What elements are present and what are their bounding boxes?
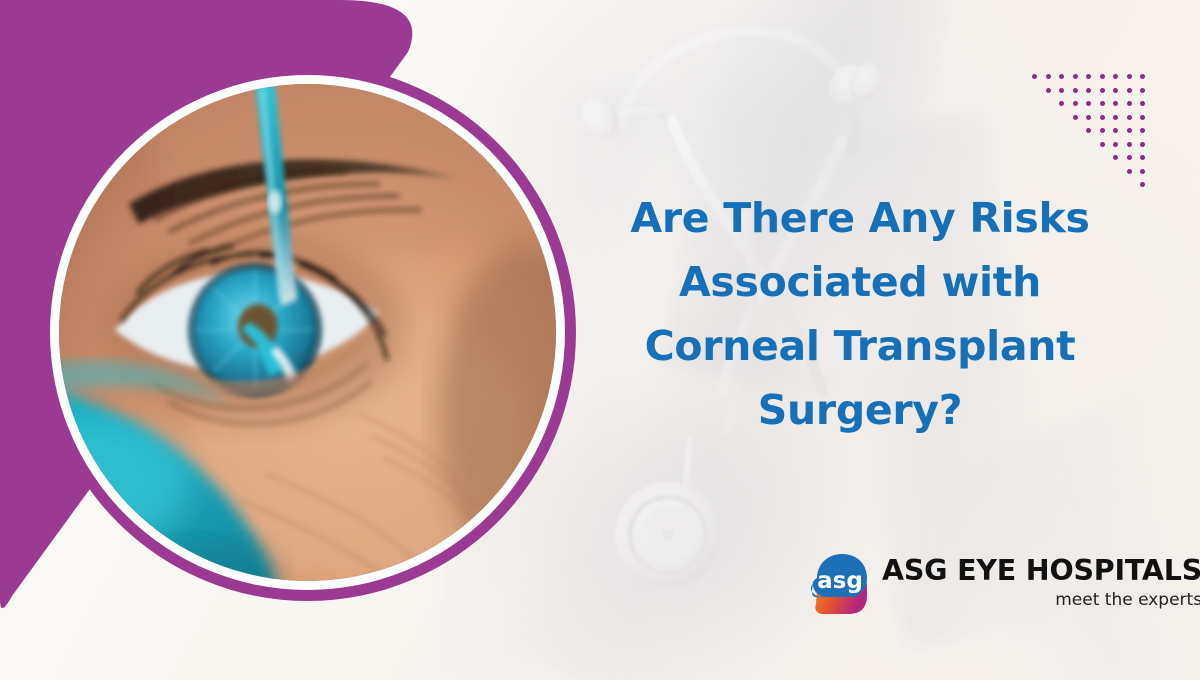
dot [1113, 115, 1118, 120]
dot [1059, 74, 1064, 79]
dot [1059, 88, 1064, 93]
logo-name: ASG EYE HOSPITALS [882, 557, 1200, 586]
dot [1073, 74, 1078, 79]
dot [1140, 155, 1145, 160]
dot [1140, 182, 1145, 187]
dot [1127, 155, 1132, 160]
dot-row [1032, 101, 1145, 106]
dot-row [1032, 142, 1145, 147]
dot [1127, 169, 1132, 174]
dot-triangle-decoration [1032, 74, 1145, 196]
dot [1127, 115, 1132, 120]
dot [1100, 74, 1105, 79]
dot [1086, 74, 1091, 79]
dot [1140, 74, 1145, 79]
dot [1086, 128, 1091, 133]
dot-row [1032, 88, 1145, 93]
dot [1032, 74, 1037, 79]
dot [1140, 115, 1145, 120]
dot [1086, 88, 1091, 93]
dot [1100, 88, 1105, 93]
dot [1127, 142, 1132, 147]
dot [1086, 101, 1091, 106]
dot-row [1032, 74, 1145, 79]
dot-row [1032, 128, 1145, 133]
dot [1140, 169, 1145, 174]
dot [1113, 88, 1118, 93]
dot [1059, 101, 1064, 106]
eye-surgery-photo [59, 84, 556, 581]
hero-image-ring [39, 64, 576, 601]
dot [1100, 115, 1105, 120]
dot [1086, 115, 1091, 120]
dot [1113, 155, 1118, 160]
dot-row [1032, 155, 1145, 160]
promotional-banner: Are There Any Risks Associated with Corn… [0, 0, 1200, 680]
dot [1100, 128, 1105, 133]
dot [1113, 74, 1118, 79]
dot [1100, 101, 1105, 106]
brand-logo[interactable]: asg ASG EYE HOSPITALS meet the experts [808, 548, 1200, 618]
dot-row [1032, 115, 1145, 120]
dot [1100, 142, 1105, 147]
asg-logo-icon: asg [808, 550, 876, 618]
asg-logo-wordmark: asg [817, 568, 863, 594]
hero-image-circle [59, 84, 556, 581]
dot [1073, 115, 1078, 120]
dot [1127, 128, 1132, 133]
logo-text-block: ASG EYE HOSPITALS meet the experts [882, 548, 1200, 609]
dot [1140, 88, 1145, 93]
dot-row [1032, 169, 1145, 174]
dot [1140, 142, 1145, 147]
dot [1046, 88, 1051, 93]
page-title: Are There Any Risks Associated with Corn… [600, 186, 1120, 442]
dot [1113, 142, 1118, 147]
dot [1140, 128, 1145, 133]
dot [1127, 88, 1132, 93]
dot [1113, 101, 1118, 106]
dot [1046, 74, 1051, 79]
dot [1073, 101, 1078, 106]
dot [1073, 88, 1078, 93]
dot [1127, 74, 1132, 79]
dot [1127, 101, 1132, 106]
dot [1140, 101, 1145, 106]
dot [1113, 128, 1118, 133]
logo-tagline: meet the experts [882, 592, 1200, 609]
